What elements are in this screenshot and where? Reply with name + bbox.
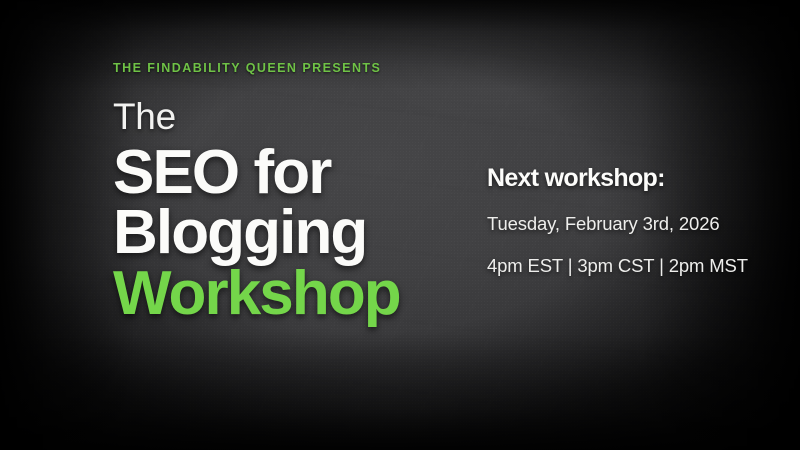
slide-content: THE FINDABILITY QUEEN PRESENTS The SEO f… [0, 0, 800, 450]
schedule-column: Next workshop: Tuesday, February 3rd, 20… [487, 166, 777, 275]
promo-slide: THE FINDABILITY QUEEN PRESENTS The SEO f… [0, 0, 800, 450]
headline-line-workshop: Workshop [113, 264, 473, 325]
workshop-times: 4pm EST | 3pm CST | 2pm MST [487, 257, 777, 276]
workshop-date: Tuesday, February 3rd, 2026 [487, 215, 777, 234]
headline-line-the: The [113, 98, 473, 135]
headline-line-blogging: Blogging [113, 203, 473, 264]
headline-column: THE FINDABILITY QUEEN PRESENTS The SEO f… [113, 62, 473, 325]
presenter-eyebrow: THE FINDABILITY QUEEN PRESENTS [113, 62, 473, 75]
next-workshop-label: Next workshop: [487, 166, 777, 191]
headline-line-seo-for: SEO for [113, 143, 473, 204]
